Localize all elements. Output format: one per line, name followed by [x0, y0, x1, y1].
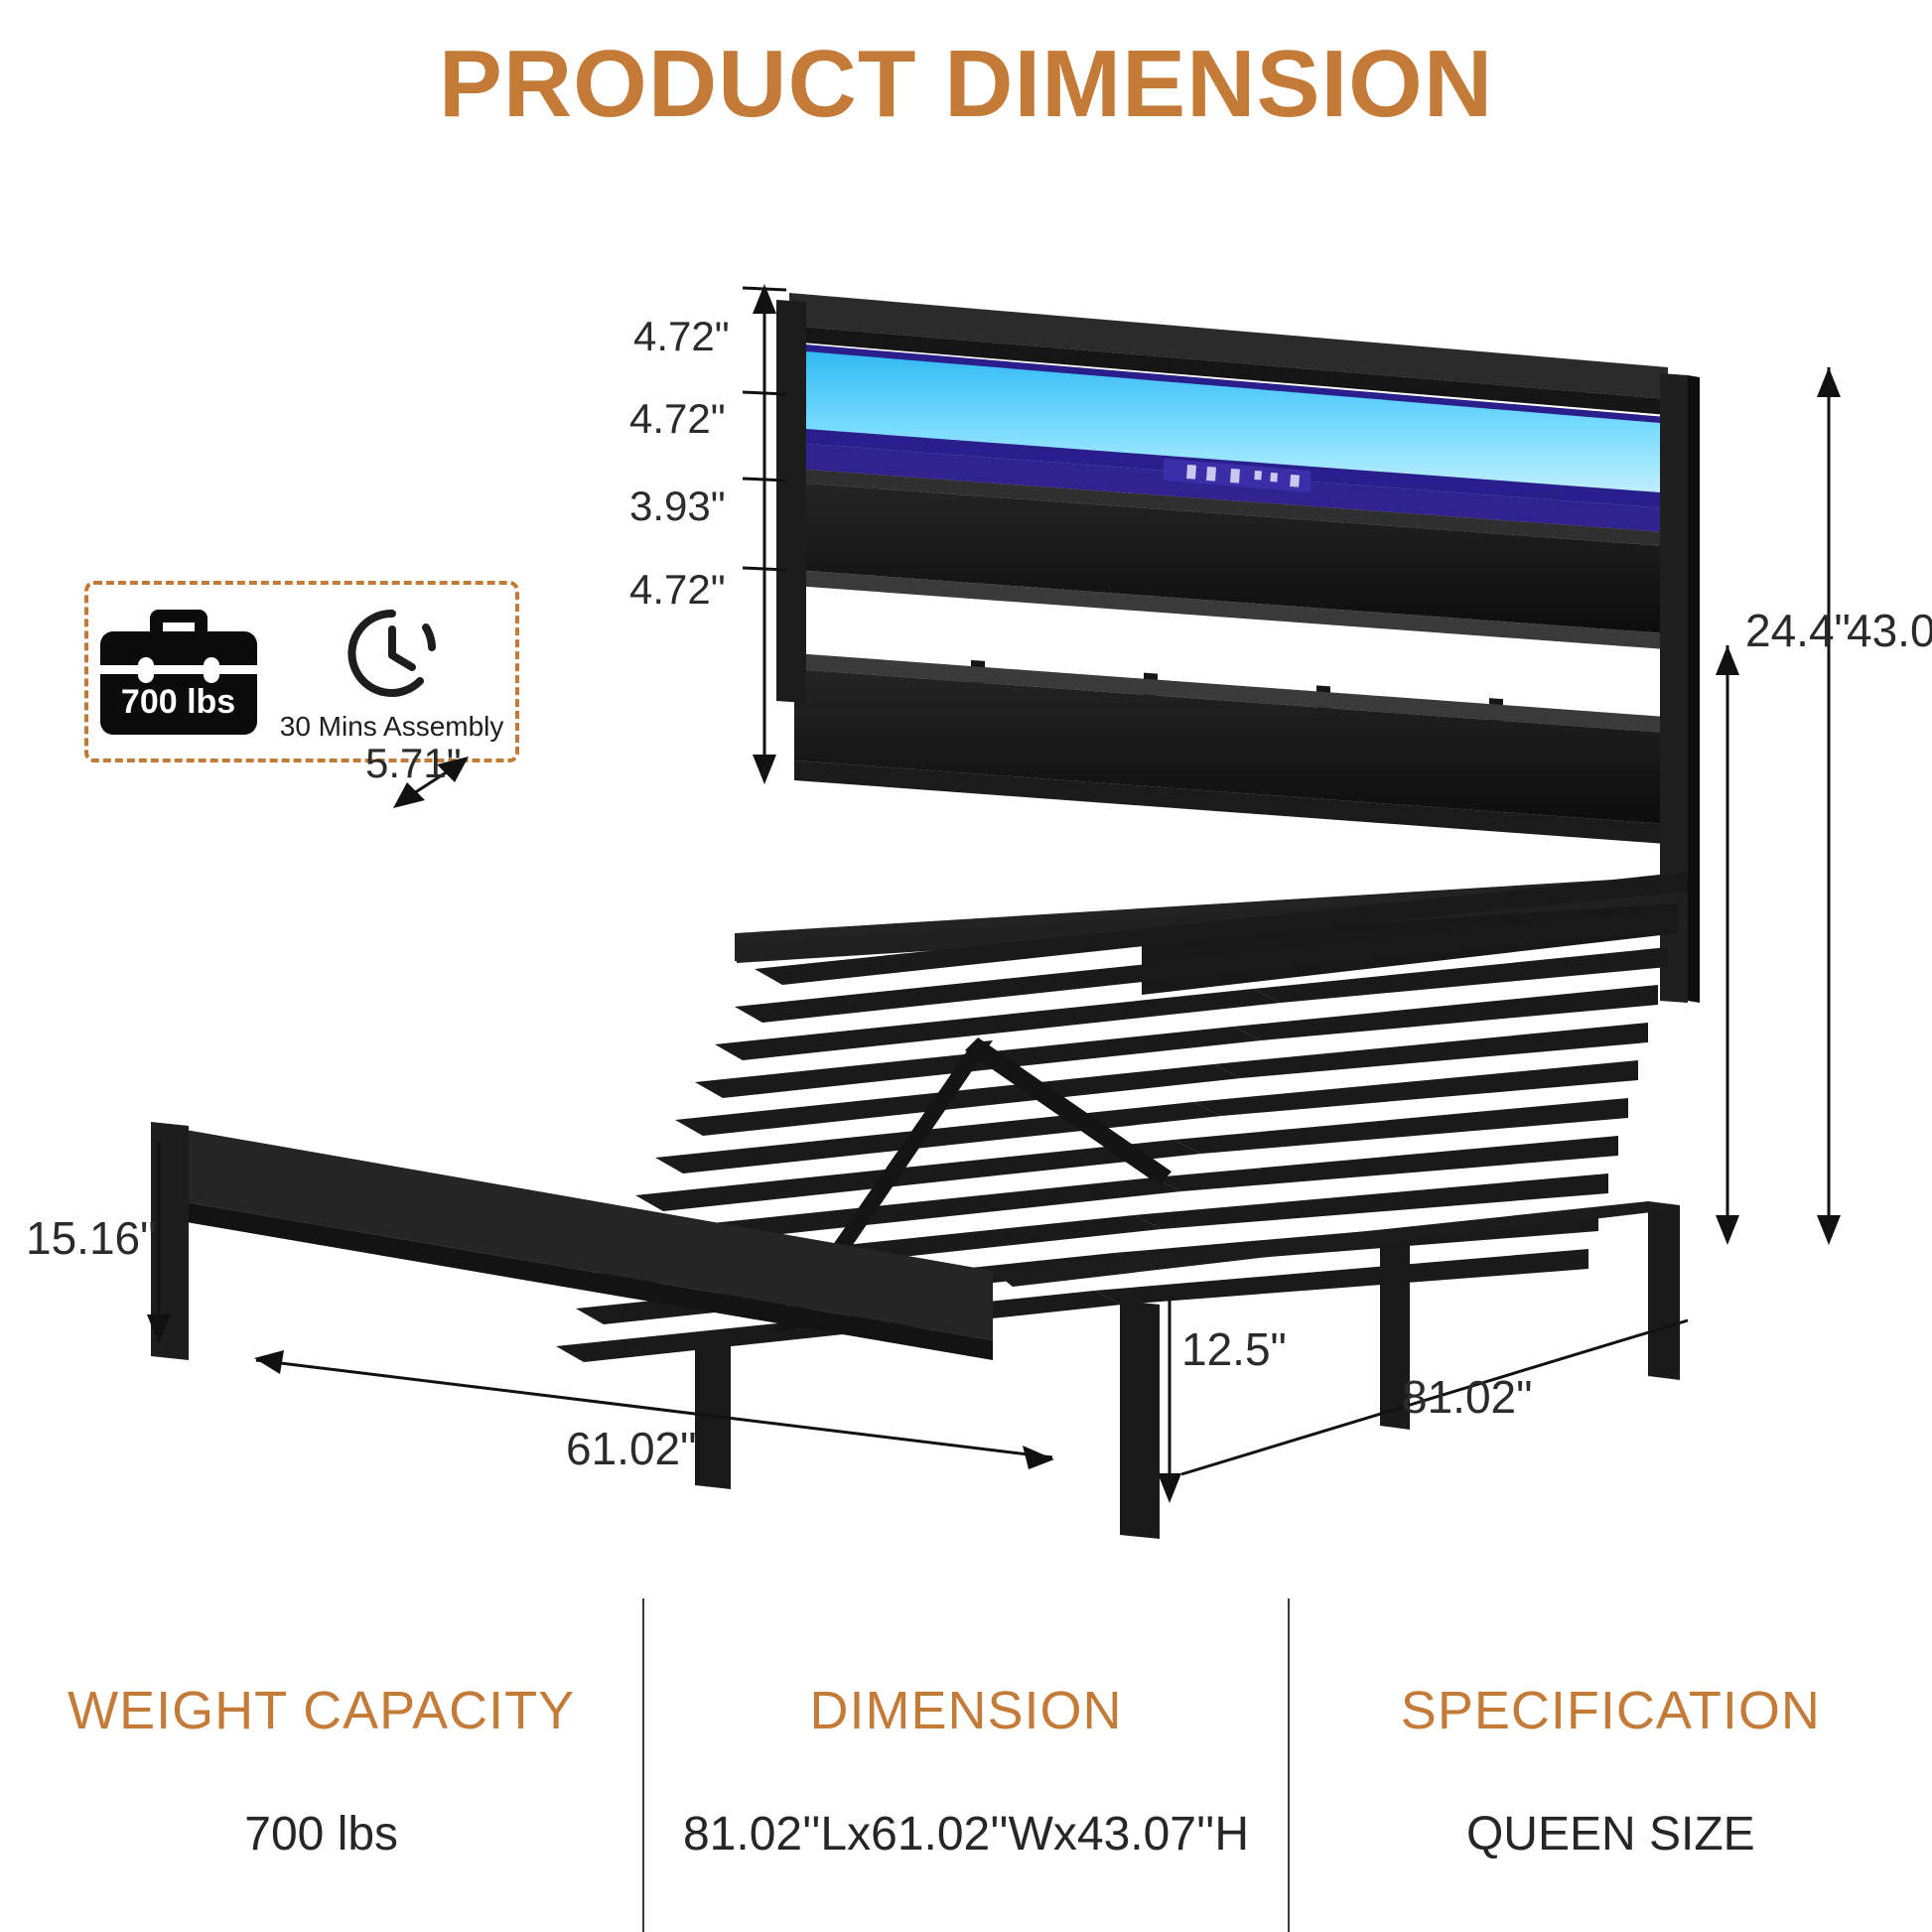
info-column-dimension: DIMENSION 81.02''Lx61.02''Wx43.07''H: [642, 1598, 1287, 1932]
info-value: 81.02''Lx61.02''Wx43.07''H: [683, 1807, 1249, 1862]
info-strip: WEIGHT CAPACITY 700 lbs DIMENSION 81.02'…: [0, 1598, 1932, 1932]
info-heading: DIMENSION: [809, 1680, 1122, 1741]
info-column-specification: SPECIFICATION QUEEN SIZE: [1288, 1598, 1932, 1932]
info-heading: WEIGHT CAPACITY: [68, 1680, 575, 1741]
dim-headboard-top: 4.72": [633, 313, 730, 360]
dim-headboard-second: 4.72": [629, 395, 726, 443]
dim-total-height: 43.07": [1847, 604, 1932, 657]
info-value: 700 lbs: [244, 1807, 398, 1862]
bed-frame-drawing: [0, 248, 1932, 1569]
info-heading: SPECIFICATION: [1401, 1680, 1821, 1741]
info-value: QUEEN SIZE: [1466, 1807, 1755, 1862]
dim-slat-gap: 5.71": [365, 740, 462, 787]
info-column-weight-capacity: WEIGHT CAPACITY 700 lbs: [0, 1598, 642, 1932]
dim-headboard-bottom: 4.72": [629, 566, 726, 614]
dim-width: 61.02": [566, 1422, 696, 1475]
dim-leg-height: 15.16": [26, 1211, 156, 1265]
dim-clearance: 12.5": [1181, 1322, 1287, 1376]
dim-length: 81.02": [1402, 1370, 1532, 1424]
dim-headboard-height: 24.4": [1745, 604, 1851, 657]
page-title: PRODUCT DIMENSION: [0, 30, 1932, 139]
bed-illustration: 4.72" 4.72" 3.93" 4.72" 24.4" 43.07" 5.7…: [0, 248, 1932, 1569]
dim-headboard-cubby: 3.93": [629, 483, 726, 530]
